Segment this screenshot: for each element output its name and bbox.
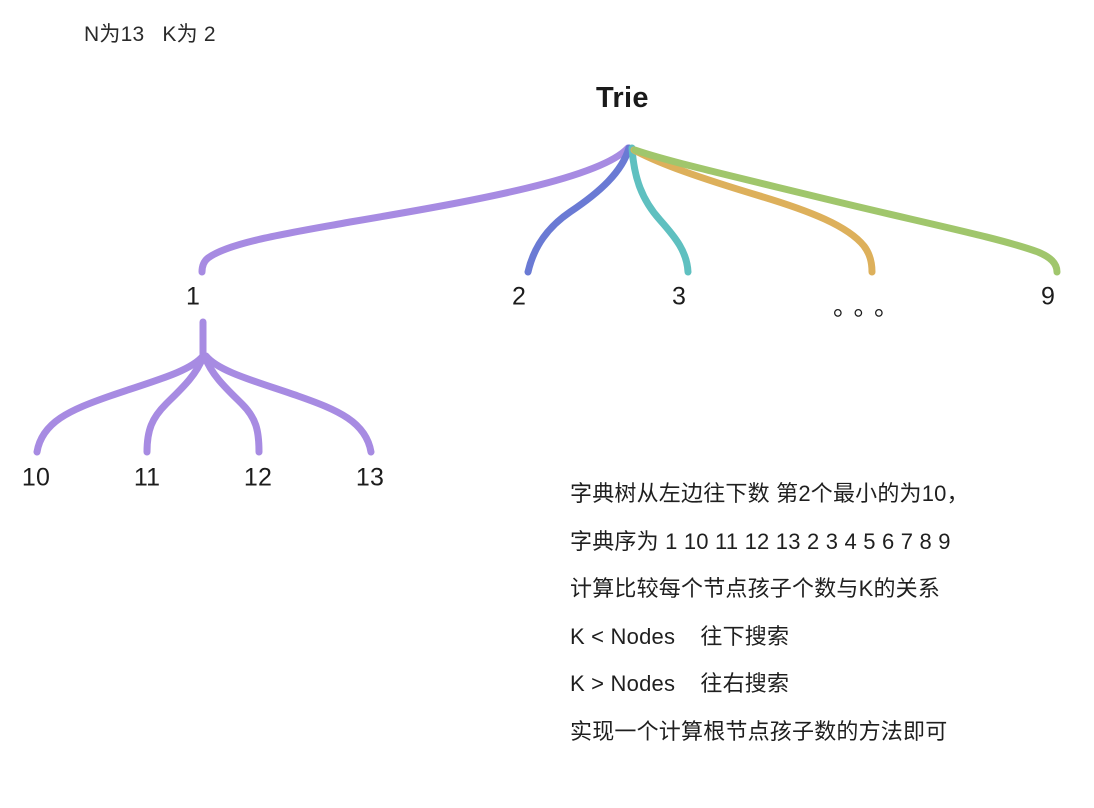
explanation-line-1: 字典树从左边往下数 第2个最小的为10， — [570, 470, 1080, 518]
tree-node-1: 1 — [186, 283, 200, 312]
edge-root-to-ellipsis — [634, 150, 872, 272]
tree-node-11: 11 — [134, 464, 160, 493]
tree-node-9: 9 — [1041, 283, 1055, 312]
explanation-line-2: 字典序为 1 10 11 12 13 2 3 4 5 6 7 8 9 — [570, 518, 1080, 566]
tree-node-2: 2 — [512, 283, 526, 312]
tree-node-10: 10 — [22, 464, 50, 493]
edge-root-to-1 — [202, 148, 628, 272]
tree-node-3: 3 — [672, 283, 686, 312]
edge-1-to-10 — [37, 356, 203, 452]
explanation-line-5: K > Nodes 往右搜索 — [570, 660, 1080, 708]
header-note: N为13 K为 2 — [84, 18, 216, 48]
explanation-line-3: 计算比较每个节点孩子个数与K的关系 — [570, 565, 1080, 613]
explanation-block: 字典树从左边往下数 第2个最小的为10， 字典序为 1 10 11 12 13 … — [570, 470, 1080, 755]
tree-node-12: 12 — [244, 464, 272, 493]
edge-1-to-13 — [206, 356, 371, 452]
explanation-line-4: K < Nodes 往下搜索 — [570, 613, 1080, 661]
edge-root-to-9 — [635, 150, 1057, 272]
level1-edge-group — [202, 148, 1057, 272]
level2-edge-group — [37, 322, 371, 452]
explanation-line-6: 实现一个计算根节点孩子数的方法即可 — [570, 708, 1080, 756]
tree-node-ellipsis: 。。。 — [833, 287, 907, 323]
diagram-title: Trie — [596, 82, 649, 115]
edge-root-to-2 — [528, 148, 629, 272]
tree-node-13: 13 — [356, 464, 384, 493]
